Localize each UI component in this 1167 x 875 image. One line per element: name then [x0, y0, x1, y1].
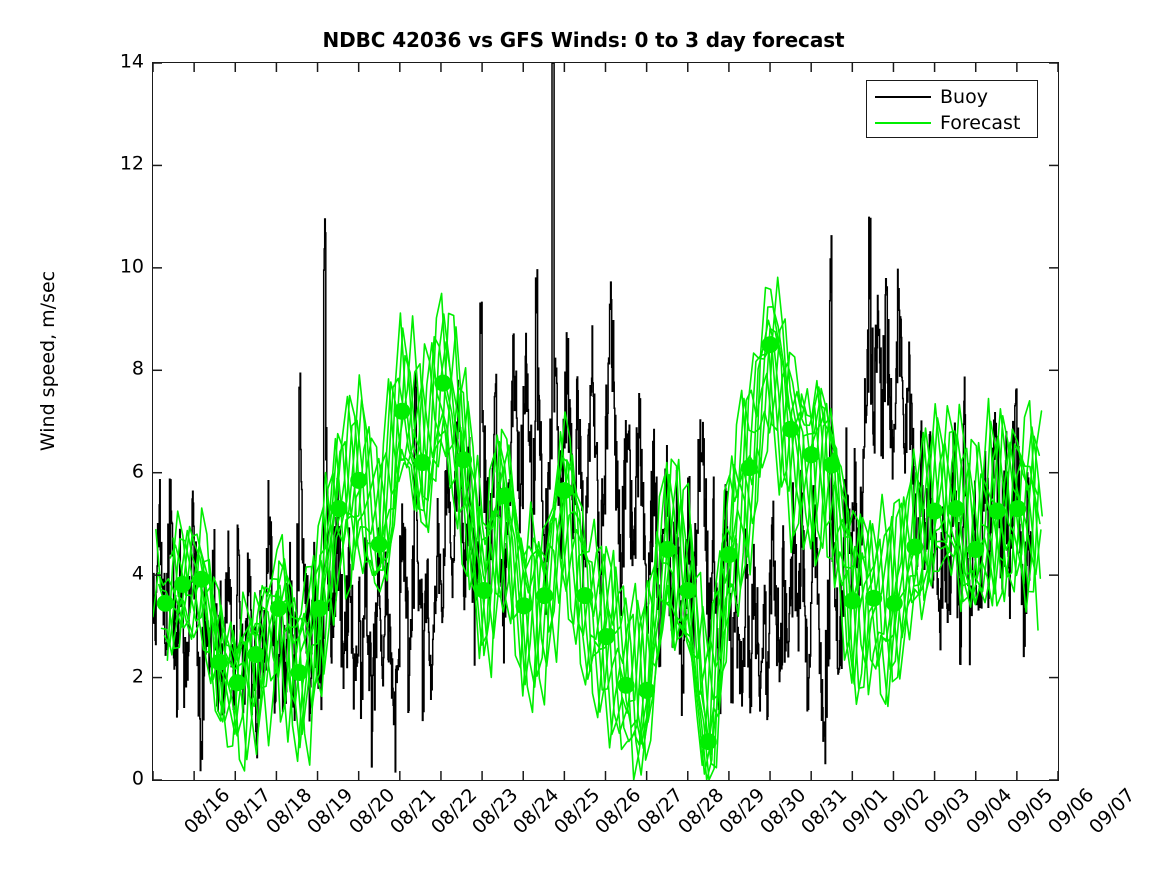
forecast-mean-marker — [741, 459, 758, 476]
x-axis-tick-label: 08/26 — [591, 784, 645, 838]
forecast-mean-marker — [926, 503, 943, 520]
forecast-mean-marker — [476, 582, 493, 599]
forecast-mean-marker — [598, 628, 615, 645]
x-axis-tick-label: 08/31 — [797, 784, 851, 838]
x-axis-tick-label: 08/27 — [633, 784, 687, 838]
x-axis-tick-label: 08/22 — [427, 784, 481, 838]
forecast-mean-marker — [270, 600, 287, 617]
forecast-mean-marker — [782, 421, 799, 438]
y-axis-tick-label: 14 — [100, 53, 144, 72]
x-axis-tick-label: 08/17 — [221, 784, 275, 838]
forecast-mean-marker — [638, 682, 655, 699]
forecast-mean-marker — [700, 733, 717, 750]
x-axis-tick-label: 08/19 — [303, 784, 357, 838]
forecast-mean-marker — [393, 403, 410, 420]
forecast-mean-marker — [229, 674, 246, 691]
x-axis-tick-label: 09/06 — [1044, 784, 1098, 838]
x-axis-tick-label: 08/18 — [262, 784, 316, 838]
x-axis-tick-label: 08/25 — [550, 784, 604, 838]
x-axis-tick-label: 09/07 — [1085, 784, 1139, 838]
x-axis-tick-label: 08/23 — [468, 784, 522, 838]
forecast-mean-marker — [989, 503, 1006, 520]
forecast-mean-marker — [311, 600, 328, 617]
x-axis-tick-label: 09/03 — [920, 784, 974, 838]
x-axis-tick-label: 08/29 — [715, 784, 769, 838]
forecast-mean-marker — [435, 375, 452, 392]
forecast-mean-marker — [556, 482, 573, 499]
forecast-mean-marker — [762, 336, 779, 353]
forecast-mean-marker — [659, 541, 676, 558]
y-axis-tick-label: 8 — [100, 360, 144, 379]
chart-figure: NDBC 42036 vs GFS Winds: 0 to 3 day fore… — [0, 0, 1167, 875]
forecast-mean-marker — [455, 451, 472, 468]
x-axis-tick-label: 09/05 — [1003, 784, 1057, 838]
legend-label-forecast: Forecast — [940, 114, 1020, 133]
forecast-mean-marker — [371, 536, 388, 553]
y-axis-tick-label: 0 — [100, 770, 144, 789]
forecast-mean-marker — [948, 500, 965, 517]
x-axis-tick-label: 08/20 — [345, 784, 399, 838]
forecast-mean-marker — [516, 597, 533, 614]
y-axis-tick-label: 2 — [100, 667, 144, 686]
forecast-mean-marker — [157, 595, 174, 612]
chart-title: NDBC 42036 vs GFS Winds: 0 to 3 day fore… — [0, 28, 1167, 52]
forecast-mean-marker — [536, 587, 553, 604]
forecast-mean-marker — [803, 446, 820, 463]
x-axis-tick-labels: 08/1608/1708/1808/1908/2008/2108/2208/23… — [152, 784, 1057, 874]
forecast-mean-marker — [844, 592, 861, 609]
chart-legend: Buoy Forecast — [866, 80, 1038, 138]
x-axis-tick-label: 08/21 — [386, 784, 440, 838]
forecast-mean-marker — [211, 654, 228, 671]
legend-label-buoy: Buoy — [940, 88, 988, 107]
x-axis-tick-label: 09/04 — [962, 784, 1016, 838]
forecast-mean-marker — [618, 677, 635, 694]
y-axis-tick-label: 6 — [100, 462, 144, 481]
plot-svg — [153, 63, 1058, 780]
y-axis-label: Wind speed, m/sec — [37, 181, 59, 541]
forecast-mean-marker — [823, 457, 840, 474]
x-axis-tick-label: 08/28 — [674, 784, 728, 838]
forecast-mean-marker — [247, 646, 264, 663]
forecast-mean-marker — [576, 587, 593, 604]
forecast-mean-marker — [193, 571, 210, 588]
forecast-mean-marker — [679, 582, 696, 599]
x-axis-tick-label: 08/16 — [180, 784, 234, 838]
y-axis-tick-label: 4 — [100, 565, 144, 584]
forecast-mean-marker — [350, 472, 367, 489]
y-axis-tick-label: 10 — [100, 257, 144, 276]
forecast-mean-marker — [1009, 500, 1026, 517]
x-axis-tick-label: 08/30 — [756, 784, 810, 838]
forecast-mean-marker — [414, 454, 431, 471]
forecast-mean-marker — [174, 576, 191, 593]
forecast-mean-marker — [906, 539, 923, 556]
forecast-mean-marker — [967, 541, 984, 558]
legend-swatch-forecast — [875, 122, 931, 124]
x-axis-tick-label: 09/01 — [838, 784, 892, 838]
forecast-mean-marker — [886, 595, 903, 612]
forecast-mean-marker — [291, 664, 308, 681]
forecast-mean-marker — [330, 500, 347, 517]
legend-entry-buoy: Buoy — [867, 84, 1037, 110]
forecast-mean-marker — [720, 546, 737, 563]
y-axis-tick-label: 12 — [100, 155, 144, 174]
forecast-mean-marker — [496, 487, 513, 504]
plot-area — [152, 62, 1059, 781]
y-axis-tick-labels: 02468101214 — [92, 62, 144, 779]
x-axis-tick-label: 08/24 — [509, 784, 563, 838]
legend-entry-forecast: Forecast — [867, 110, 1037, 136]
forecast-mean-marker — [865, 590, 882, 607]
x-axis-tick-label: 09/02 — [879, 784, 933, 838]
legend-swatch-buoy — [875, 96, 931, 98]
